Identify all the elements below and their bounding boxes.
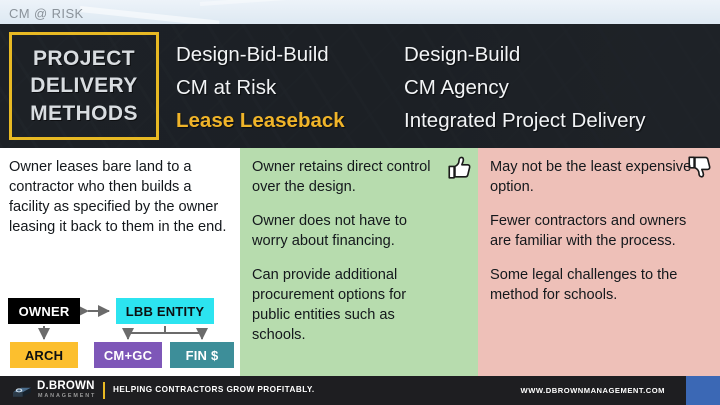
cons-item-1: May not be the least expensive option.	[490, 157, 702, 197]
title-line-3: METHODS	[30, 100, 138, 127]
slide-label: CM @ RISK	[9, 6, 84, 21]
cons-item-2: Fewer contractors and owners are familia…	[490, 211, 702, 251]
diagram-box-owner: OWNER	[8, 298, 80, 324]
pros-list: Owner retains direct control over the de…	[252, 157, 442, 345]
footer-brand-sub: MANAGEMENT	[38, 393, 96, 399]
title-box: PROJECT DELIVERY METHODS	[9, 32, 159, 140]
method-design-bid-build: Design-Bid-Build	[176, 38, 404, 71]
cons-panel: May not be the least expensive option. F…	[478, 148, 720, 376]
definition-text: Owner leases bare land to a contractor w…	[9, 157, 233, 237]
footer-bar: D.BROWN MANAGEMENT HELPING CONTRACTORS G…	[0, 376, 720, 405]
title-line-2: DELIVERY	[30, 72, 137, 99]
footer-tagline: HELPING CONTRACTORS GROW PROFITABLY.	[113, 385, 315, 394]
method-integrated-project-delivery: Integrated Project Delivery	[404, 104, 704, 137]
thumbs-up-icon	[446, 155, 472, 181]
lease-leaseback-diagram: OWNER LBB ENTITY ARCH CM+GC FIN $	[6, 286, 234, 368]
method-cm-at-risk: CM at Risk	[176, 71, 404, 104]
pros-item-2: Owner does not have to worry about finan…	[252, 211, 442, 251]
footer-divider	[103, 382, 105, 399]
pros-item-3: Can provide additional procurement optio…	[252, 265, 442, 345]
slide: CM @ RISK PROJECT DELIVERY METHODS Desig…	[0, 0, 720, 405]
diagram-box-arch: ARCH	[10, 342, 78, 368]
content-panels: Owner leases bare land to a contractor w…	[0, 148, 720, 376]
methods-column-left: Design-Bid-Build CM at Risk Lease Leaseb…	[176, 38, 404, 138]
diagram-box-fin: FIN $	[170, 342, 234, 368]
dbrown-logo-icon	[11, 381, 33, 399]
method-lease-leaseback: Lease Leaseback	[176, 104, 404, 137]
delivery-methods-list: Design-Bid-Build CM at Risk Lease Leaseb…	[176, 38, 716, 138]
title-line-1: PROJECT	[33, 45, 135, 72]
method-cm-agency: CM Agency	[404, 71, 704, 104]
footer-blue-tab	[686, 376, 720, 405]
definition-panel: Owner leases bare land to a contractor w…	[0, 148, 240, 376]
pros-item-1: Owner retains direct control over the de…	[252, 157, 442, 197]
diagram-box-cm-gc: CM+GC	[94, 342, 162, 368]
header-band: PROJECT DELIVERY METHODS Design-Bid-Buil…	[0, 24, 720, 148]
cons-list: May not be the least expensive option. F…	[490, 157, 702, 305]
diagram-box-lbb-entity: LBB ENTITY	[116, 298, 214, 324]
method-design-build: Design-Build	[404, 38, 704, 71]
pros-panel: Owner retains direct control over the de…	[240, 148, 478, 376]
footer-url[interactable]: WWW.DBROWNMANAGEMENT.COM	[521, 386, 665, 395]
methods-column-right: Design-Build CM Agency Integrated Projec…	[404, 38, 704, 138]
cons-item-3: Some legal challenges to the method for …	[490, 265, 702, 305]
footer-brand: D.BROWN	[37, 381, 95, 392]
